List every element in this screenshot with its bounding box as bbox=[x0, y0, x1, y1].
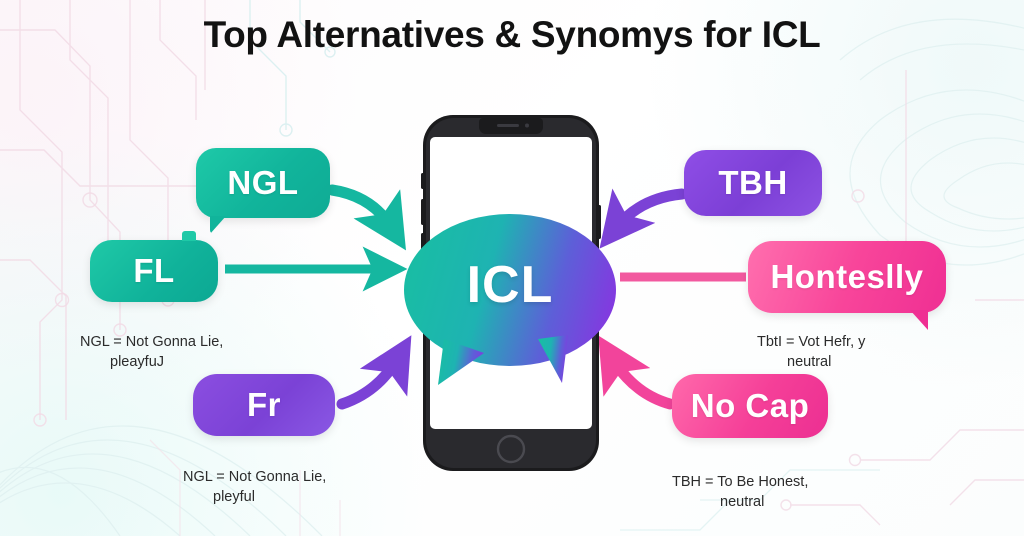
bubble-ngl[interactable]: NGL bbox=[196, 148, 330, 218]
caption-tbh-bottom-line1: TBH = To Be Honest, bbox=[672, 474, 808, 490]
phone-camera bbox=[525, 124, 529, 128]
bubble-honestly-tail bbox=[910, 310, 928, 330]
caption-ngl: NGL = Not Gonna Lie, pleayfuJ bbox=[80, 312, 223, 392]
infographic-canvas: Top Alternatives & Synomys for ICL bbox=[0, 0, 1024, 536]
bubble-tbh-label: TBH bbox=[718, 164, 787, 202]
bubble-tbh[interactable]: TBH bbox=[684, 150, 822, 216]
caption-tbh-bottom: TBH = To Be Honest, neutral bbox=[672, 452, 808, 532]
smartphone-mockup bbox=[421, 113, 601, 473]
bubble-fr-label: Fr bbox=[247, 386, 281, 424]
bubble-honestly[interactable]: Honteslly bbox=[748, 241, 946, 313]
bubble-fl-tail bbox=[182, 231, 196, 241]
caption-ngl-line2: pleayfuJ bbox=[80, 352, 223, 372]
page-title: Top Alternatives & Synomys for ICL bbox=[0, 14, 1024, 56]
phone-speaker bbox=[497, 124, 519, 127]
bubble-ngl-label: NGL bbox=[227, 164, 298, 202]
caption-ngl-line1: NGL = Not Gonna Lie, bbox=[80, 334, 223, 350]
caption-tbh-top-line2: neutral bbox=[757, 352, 865, 372]
caption-fr-line1: NGL = Not Gonna Lie, bbox=[183, 469, 326, 485]
caption-tbh-bottom-line2: neutral bbox=[672, 492, 808, 512]
caption-tbh-top-line1: TbtI = Vot Hefr, y bbox=[757, 334, 865, 350]
caption-fr-line2: pleyful bbox=[183, 487, 326, 507]
bubble-fl[interactable]: FL bbox=[90, 240, 218, 302]
caption-fr: NGL = Not Gonna Lie, pleyful bbox=[183, 447, 326, 527]
bubble-ngl-tail bbox=[210, 216, 226, 234]
bubble-nocap-label: No Cap bbox=[691, 387, 810, 425]
caption-tbh-top: TbtI = Vot Hefr, y neutral bbox=[757, 312, 865, 392]
bubble-fl-label: FL bbox=[133, 252, 174, 290]
bubble-honestly-label: Honteslly bbox=[770, 258, 923, 296]
